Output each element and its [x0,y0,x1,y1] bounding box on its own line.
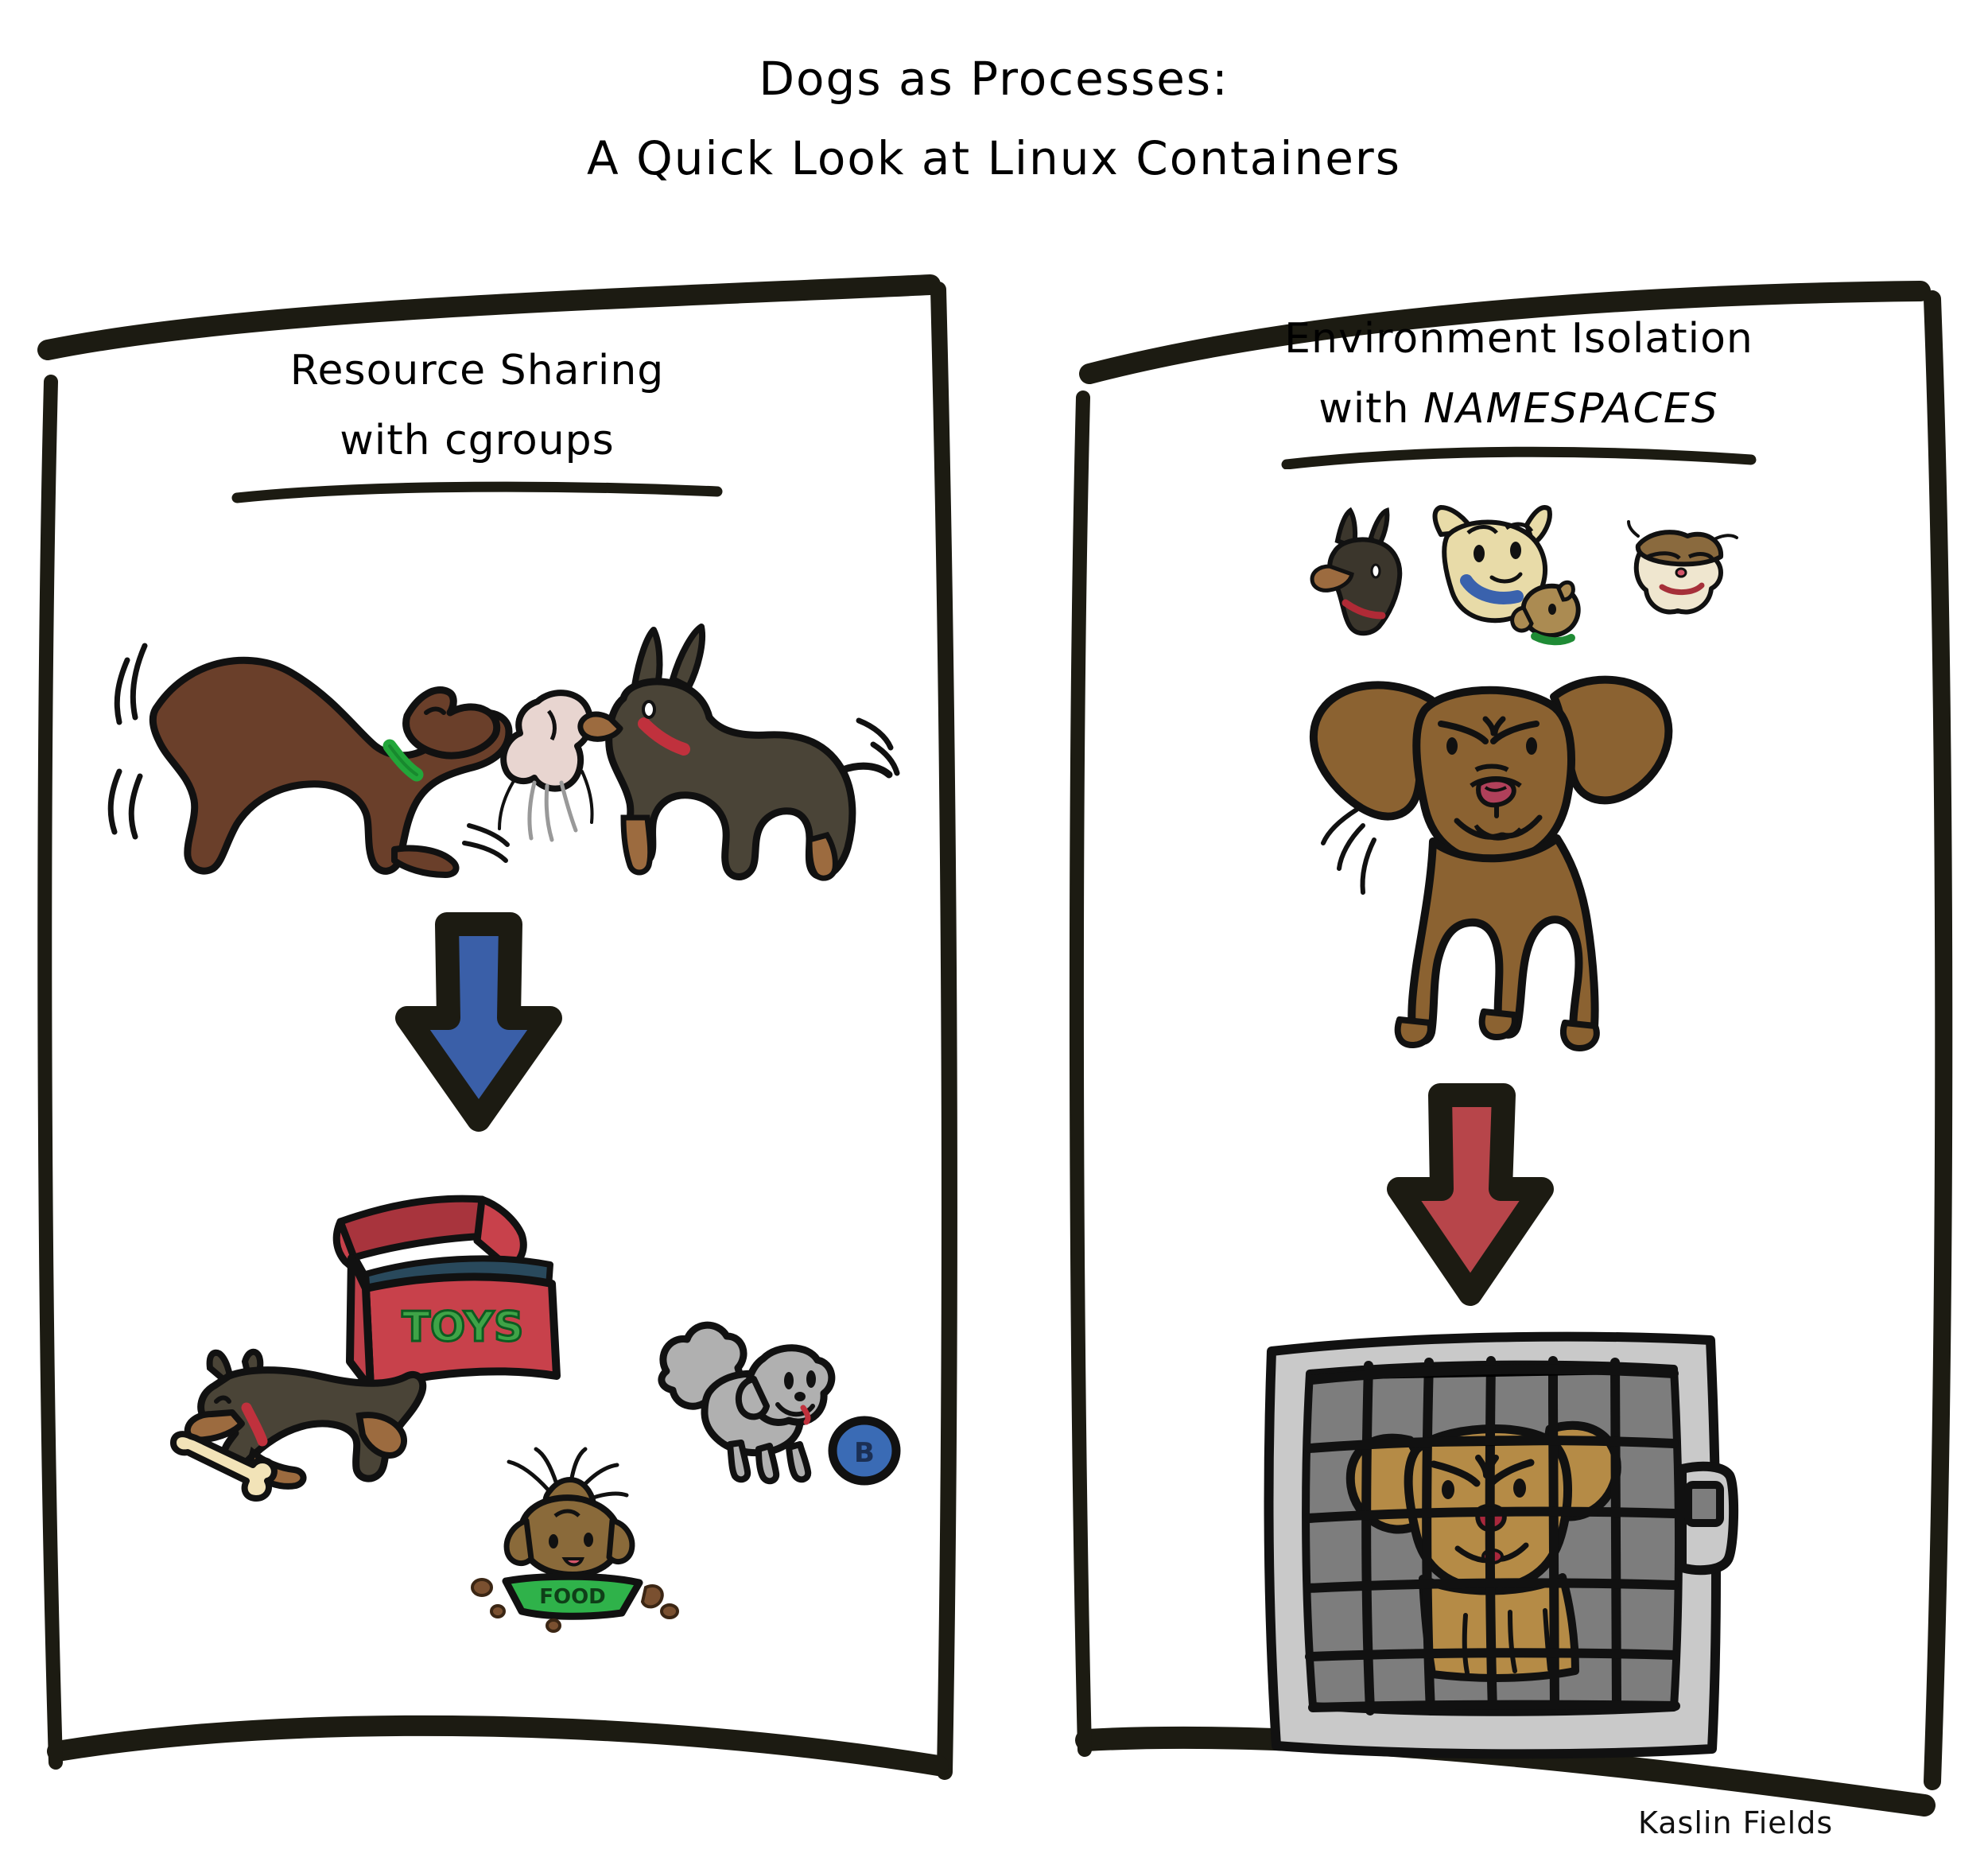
page-title: Dogs as Processes: A Quick Look at Linux… [0,56,1988,181]
crate-latch-icon [1682,1467,1734,1570]
cgroups-heading-underline [231,480,724,504]
cgroups-heading: Resource Sharing with cgroups [95,350,859,504]
blue-ball: B [821,1409,908,1493]
puppy-at-food-bowl: FOOD [461,1447,684,1638]
angry-brown-dog [1312,668,1678,1058]
food-bowl-label: FOOD [539,1585,606,1609]
cgroups-heading-line-2: with cgroups [95,420,859,461]
doberman-puller [580,627,889,878]
scene-tug-of-war [95,612,907,915]
title-line-2: A Quick Look at Linux Containers [0,135,1988,181]
namespaces-heading-underline [1280,445,1757,469]
title-line-1: Dogs as Processes: [0,56,1988,102]
dog-with-bone [159,1344,437,1535]
namespaces-heading-line-1: Environment Isolation [1129,318,1908,359]
arrow-down-namespaces [1380,1086,1563,1316]
namespaces-heading-line-2: with NAMESPACES [1129,388,1908,429]
comic-canvas: Dogs as Processes: A Quick Look at Linux… [0,0,1988,1869]
scruffy-dog-head-icon [1629,522,1737,612]
namespaces-heading: Environment Isolation with NAMESPACES [1129,318,1908,469]
ball-label: B [854,1437,875,1469]
namespaces-heading-emphasis: NAMESPACES [1423,385,1719,433]
cgroups-heading-line-1: Resource Sharing [95,350,859,391]
doberman-head-icon [1312,511,1400,633]
tug-toy [499,693,592,840]
brown-labrador [153,660,509,875]
arrow-down-cgroups [390,915,573,1145]
dog-crate [1252,1316,1745,1762]
namespaces-heading-prefix: with [1318,385,1423,433]
artist-signature: Kaslin Fields [1638,1805,1833,1840]
